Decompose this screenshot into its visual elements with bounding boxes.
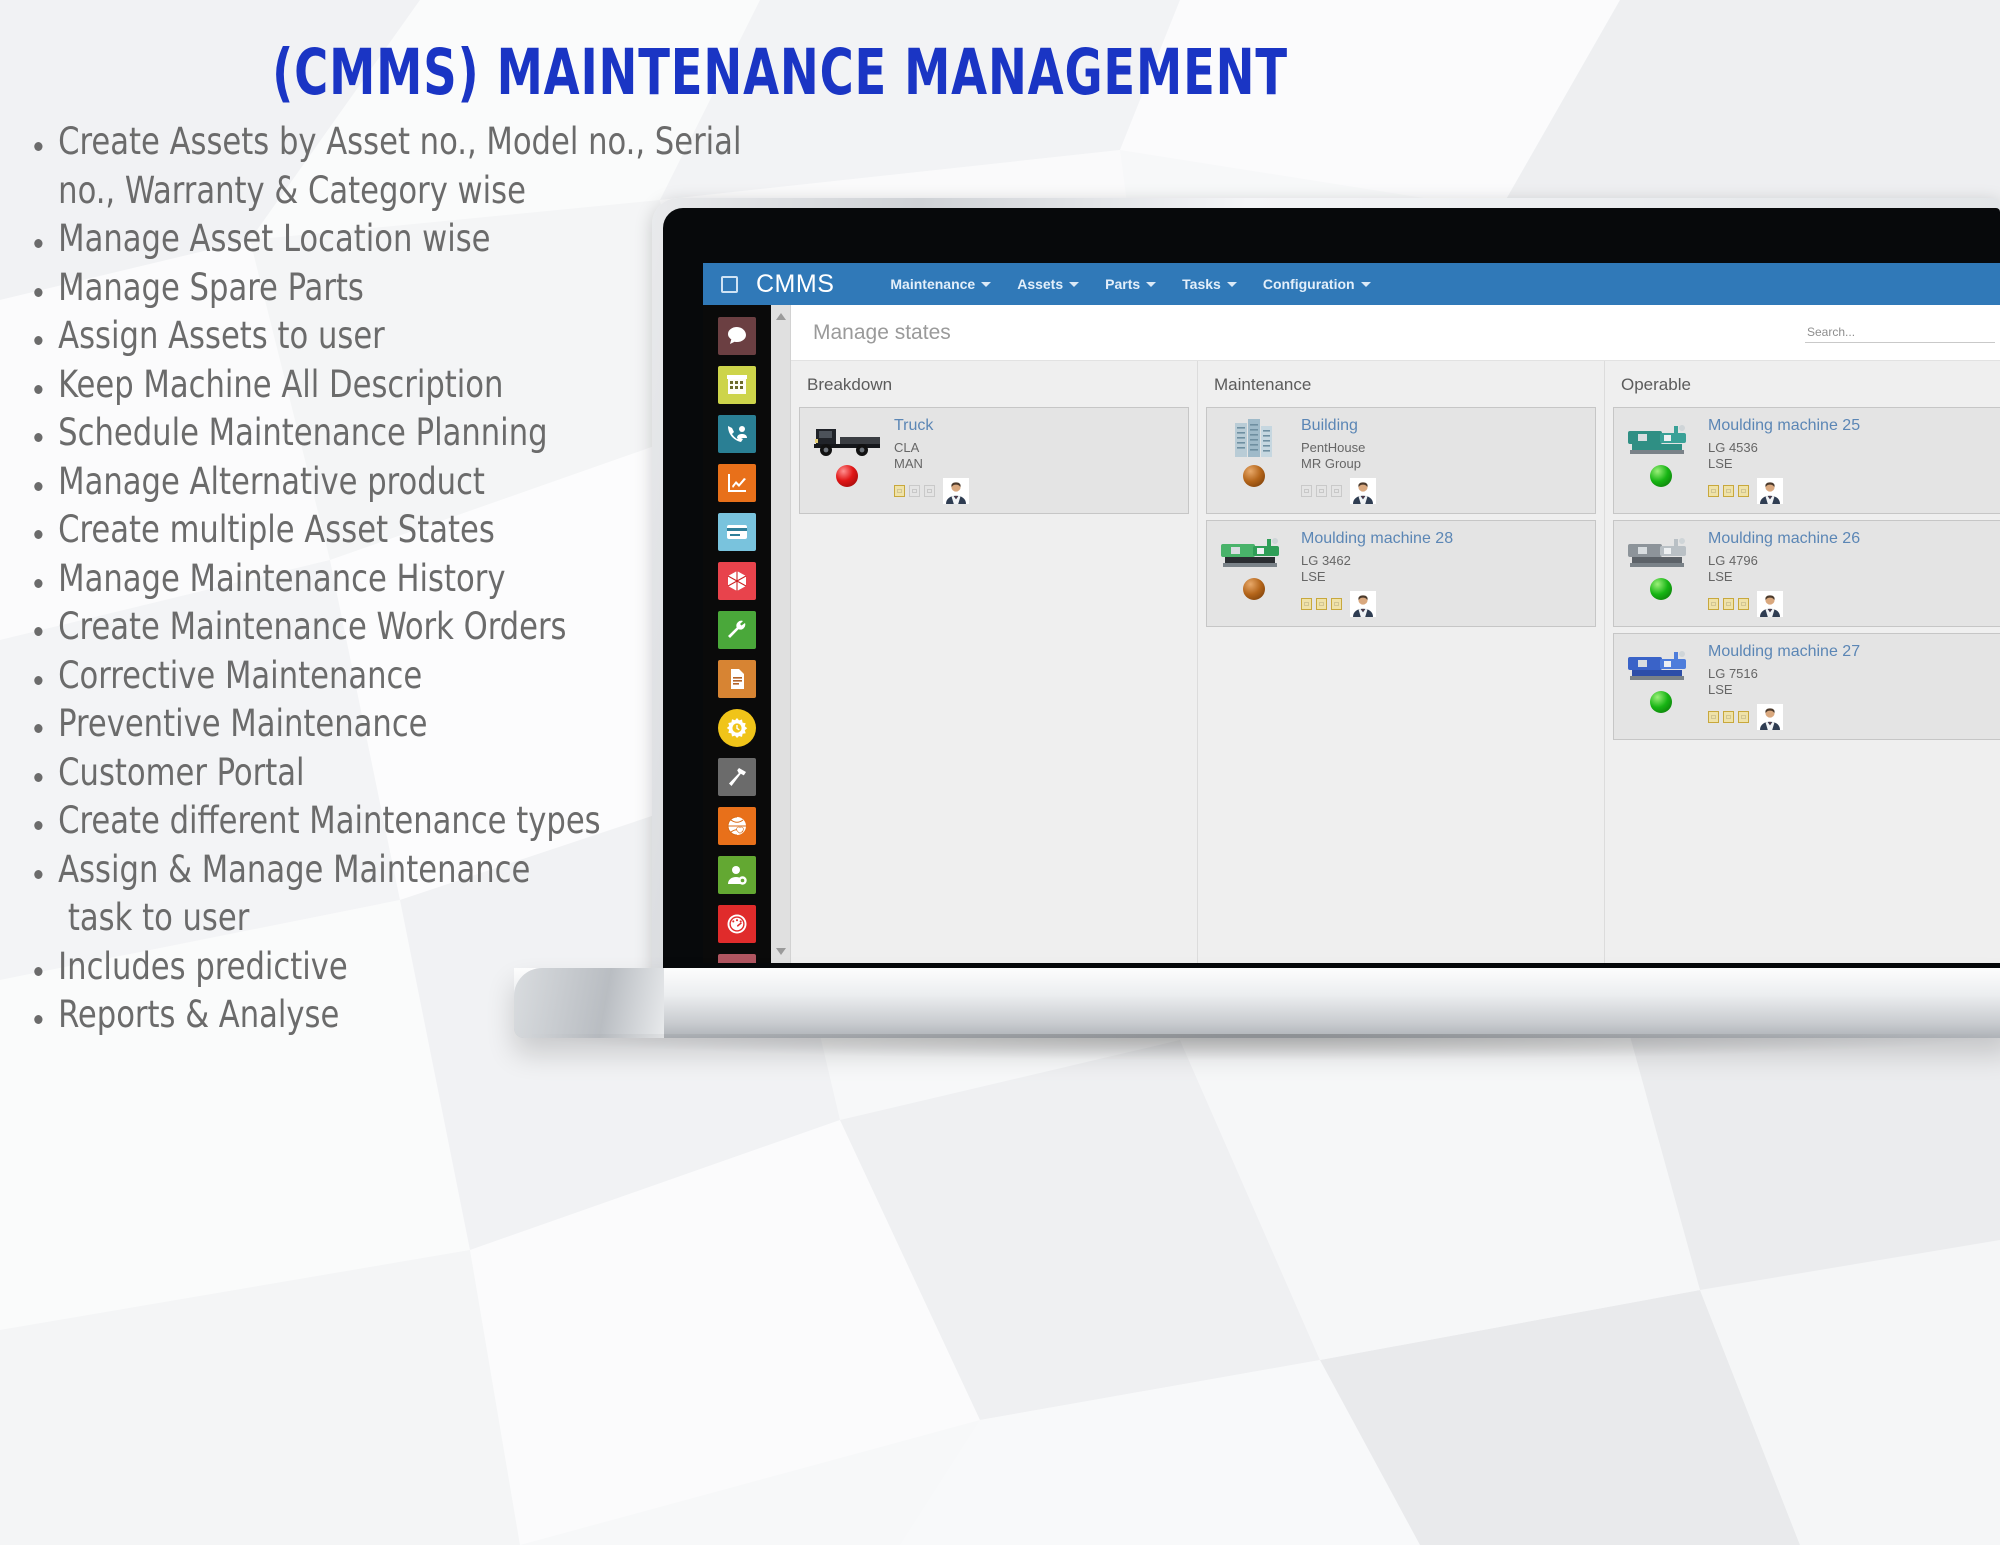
kanban-column-maintenance: MaintenanceBuildingPentHouseMR GroupMoul… xyxy=(1198,361,1605,963)
feature-bullet: Corrective Maintenance xyxy=(14,652,750,701)
content-header: Manage states xyxy=(791,305,2000,361)
kanban-column-operable: OperableMoulding machine 25LG 4536LSEMou… xyxy=(1605,361,2000,963)
user-avatar xyxy=(1757,591,1783,617)
assignee-avatar[interactable] xyxy=(1753,704,1783,730)
asset-card-details: TruckCLAMAN xyxy=(894,417,1178,504)
main-content: Manage states BreakdownTruckCLAMANMainte… xyxy=(791,305,2000,963)
asset-card-visual xyxy=(1622,417,1700,504)
truck-thumb xyxy=(810,417,884,461)
user-avatar xyxy=(1350,591,1376,617)
assignee-avatar[interactable] xyxy=(1346,591,1376,617)
priority-star-icon[interactable] xyxy=(1301,598,1312,610)
feature-bullet: Keep Machine All Description xyxy=(14,361,750,410)
navbar-links: MaintenanceAssetsPartsTasksConfiguration xyxy=(890,276,1370,292)
asset-card[interactable]: Moulding machine 25LG 4536LSE xyxy=(1613,407,2000,514)
asset-card-footer xyxy=(1301,591,1585,617)
asset-card-visual xyxy=(1215,417,1293,504)
feature-bullet: Create Maintenance Work Orders xyxy=(14,603,750,652)
app-screen: CMMS MaintenanceAssetsPartsTasksConfigur… xyxy=(703,263,2000,963)
laptop-bezel: CMMS MaintenanceAssetsPartsTasksConfigur… xyxy=(663,208,2000,1001)
priority-star-icon[interactable] xyxy=(924,485,935,497)
priority-star-icon[interactable] xyxy=(1723,711,1734,723)
asset-name-link[interactable]: Building xyxy=(1301,417,1585,435)
priority-star-icon[interactable] xyxy=(1316,598,1327,610)
machine-thumb xyxy=(1624,417,1698,461)
assignee-avatar[interactable] xyxy=(1346,478,1376,504)
priority-star-icon[interactable] xyxy=(1738,485,1749,497)
asset-vendor: LSE xyxy=(1708,569,1992,585)
app-navbar: CMMS MaintenanceAssetsPartsTasksConfigur… xyxy=(703,263,2000,305)
chevron-down-icon xyxy=(981,282,991,287)
asset-vendor: LSE xyxy=(1708,682,1992,698)
asset-card[interactable]: TruckCLAMAN xyxy=(799,407,1189,514)
asset-name-link[interactable]: Moulding machine 27 xyxy=(1708,643,1992,661)
asset-model: PentHouse xyxy=(1301,440,1585,456)
page-title: (CMMS) MAINTENANCE MANAGEMENT xyxy=(140,36,1419,109)
asset-card-footer xyxy=(894,478,1178,504)
asset-model: LG 4536 xyxy=(1708,440,1992,456)
chevron-down-icon xyxy=(1227,282,1237,287)
asset-model: CLA xyxy=(894,440,1178,456)
asset-model: LG 3462 xyxy=(1301,553,1585,569)
asset-card[interactable]: Moulding machine 26LG 4796LSE xyxy=(1613,520,2000,627)
user-avatar xyxy=(1757,704,1783,730)
feature-bullet: Manage Alternative product xyxy=(14,458,750,507)
asset-card-details: Moulding machine 26LG 4796LSE xyxy=(1708,530,1992,617)
user-avatar xyxy=(943,478,969,504)
machine-thumb xyxy=(1624,530,1698,574)
kanban-column-title: Maintenance xyxy=(1206,361,1596,407)
laptop-lid: CMMS MaintenanceAssetsPartsTasksConfigur… xyxy=(652,198,2000,1008)
priority-star-icon[interactable] xyxy=(1708,598,1719,610)
asset-model: LG 7516 xyxy=(1708,666,1992,682)
asset-name-link[interactable]: Moulding machine 25 xyxy=(1708,417,1992,435)
kanban-board: BreakdownTruckCLAMANMaintenanceBuildingP… xyxy=(791,361,2000,963)
kanban-column-title: Breakdown xyxy=(799,361,1189,407)
status-indicator-green xyxy=(1650,465,1672,487)
chevron-down-icon xyxy=(1146,282,1156,287)
feature-bullet: no., Warranty & Category wise xyxy=(14,167,750,216)
navbar-item-tasks[interactable]: Tasks xyxy=(1182,276,1237,292)
navbar-item-label: Configuration xyxy=(1263,276,1355,292)
navbar-item-assets[interactable]: Assets xyxy=(1017,276,1079,292)
asset-vendor: MR Group xyxy=(1301,456,1585,472)
feature-bullet: Schedule Maintenance Planning xyxy=(14,409,750,458)
feature-bullet: Reports & Analyse xyxy=(14,991,750,1040)
priority-star-icon[interactable] xyxy=(1331,485,1342,497)
search-input[interactable] xyxy=(1805,322,1995,343)
asset-vendor: LSE xyxy=(1708,456,1992,472)
status-indicator-orange xyxy=(1243,578,1265,600)
asset-model: LG 4796 xyxy=(1708,553,1992,569)
navbar-item-maintenance[interactable]: Maintenance xyxy=(890,276,991,292)
asset-card-details: Moulding machine 25LG 4536LSE xyxy=(1708,417,1992,504)
asset-card-visual xyxy=(1622,643,1700,730)
navbar-item-label: Tasks xyxy=(1182,276,1221,292)
feature-bullet: Create different Maintenance types xyxy=(14,797,750,846)
priority-star-icon[interactable] xyxy=(1738,711,1749,723)
chevron-down-icon xyxy=(1361,282,1371,287)
user-avatar xyxy=(1757,478,1783,504)
feature-bullet: Assign Assets to user xyxy=(14,312,750,361)
priority-star-icon[interactable] xyxy=(1331,598,1342,610)
asset-name-link[interactable]: Truck xyxy=(894,417,1178,435)
feature-bullet: Manage Spare Parts xyxy=(14,264,750,313)
asset-card[interactable]: Moulding machine 27LG 7516LSE xyxy=(1613,633,2000,740)
priority-star-icon[interactable] xyxy=(894,485,905,497)
asset-card-footer xyxy=(1708,704,1992,730)
feature-bullet: Preventive Maintenance xyxy=(14,700,750,749)
priority-star-icon[interactable] xyxy=(1708,485,1719,497)
priority-star-icon[interactable] xyxy=(1708,711,1719,723)
feature-bullet: Customer Portal xyxy=(14,749,750,798)
app-body: Manage states BreakdownTruckCLAMANMainte… xyxy=(703,305,2000,963)
feature-bullet: Manage Asset Location wise xyxy=(14,215,750,264)
user-avatar xyxy=(1350,478,1376,504)
status-indicator-green xyxy=(1650,691,1672,713)
asset-name-link[interactable]: Moulding machine 26 xyxy=(1708,530,1992,548)
asset-card-visual xyxy=(1215,530,1293,617)
navbar-item-label: Maintenance xyxy=(890,276,975,292)
navbar-item-parts[interactable]: Parts xyxy=(1105,276,1156,292)
priority-star-icon[interactable] xyxy=(1738,598,1749,610)
machine-thumb xyxy=(1624,643,1698,687)
asset-card-details: BuildingPentHouseMR Group xyxy=(1301,417,1585,504)
asset-card-details: Moulding machine 27LG 7516LSE xyxy=(1708,643,1992,730)
navbar-item-label: Assets xyxy=(1017,276,1063,292)
asset-card-footer xyxy=(1708,591,1992,617)
status-indicator-orange xyxy=(1243,465,1265,487)
chevron-down-icon xyxy=(1069,282,1079,287)
status-indicator-green xyxy=(1650,578,1672,600)
asset-vendor: LSE xyxy=(1301,569,1585,585)
feature-bullet: Includes predictive xyxy=(14,943,750,992)
assignee-avatar[interactable] xyxy=(939,478,969,504)
asset-card-details: Moulding machine 28LG 3462LSE xyxy=(1301,530,1585,617)
feature-bullet-list: Create Assets by Asset no., Model no., S… xyxy=(14,118,814,1040)
feature-bullet: Assign & Manage Maintenance xyxy=(14,846,750,895)
feature-bullet: Create multiple Asset States xyxy=(14,506,750,555)
priority-star-icon[interactable] xyxy=(1723,485,1734,497)
asset-vendor: MAN xyxy=(894,456,1178,472)
assignee-avatar[interactable] xyxy=(1753,591,1783,617)
status-indicator-red xyxy=(836,465,858,487)
feature-bullet: Create Assets by Asset no., Model no., S… xyxy=(14,118,750,167)
priority-star-icon[interactable] xyxy=(1723,598,1734,610)
priority-star-icon[interactable] xyxy=(1316,485,1327,497)
asset-card-visual xyxy=(808,417,886,504)
asset-name-link[interactable]: Moulding machine 28 xyxy=(1301,530,1585,548)
asset-card-footer xyxy=(1301,478,1585,504)
asset-card[interactable]: Moulding machine 28LG 3462LSE xyxy=(1206,520,1596,627)
building-thumb xyxy=(1217,417,1291,461)
feature-bullet: task to user xyxy=(14,894,750,943)
navbar-item-configuration[interactable]: Configuration xyxy=(1263,276,1371,292)
kanban-column-title: Operable xyxy=(1613,361,2000,407)
navbar-item-label: Parts xyxy=(1105,276,1140,292)
machine-thumb xyxy=(1217,530,1291,574)
asset-card-visual xyxy=(1622,530,1700,617)
asset-card-footer xyxy=(1708,478,1992,504)
asset-card[interactable]: BuildingPentHouseMR Group xyxy=(1206,407,1596,514)
feature-bullet: Manage Maintenance History xyxy=(14,555,750,604)
priority-star-icon[interactable] xyxy=(909,485,920,497)
assignee-avatar[interactable] xyxy=(1753,478,1783,504)
kanban-column-breakdown: BreakdownTruckCLAMAN xyxy=(791,361,1198,963)
view-title: Manage states xyxy=(813,321,951,345)
priority-star-icon[interactable] xyxy=(1301,485,1312,497)
